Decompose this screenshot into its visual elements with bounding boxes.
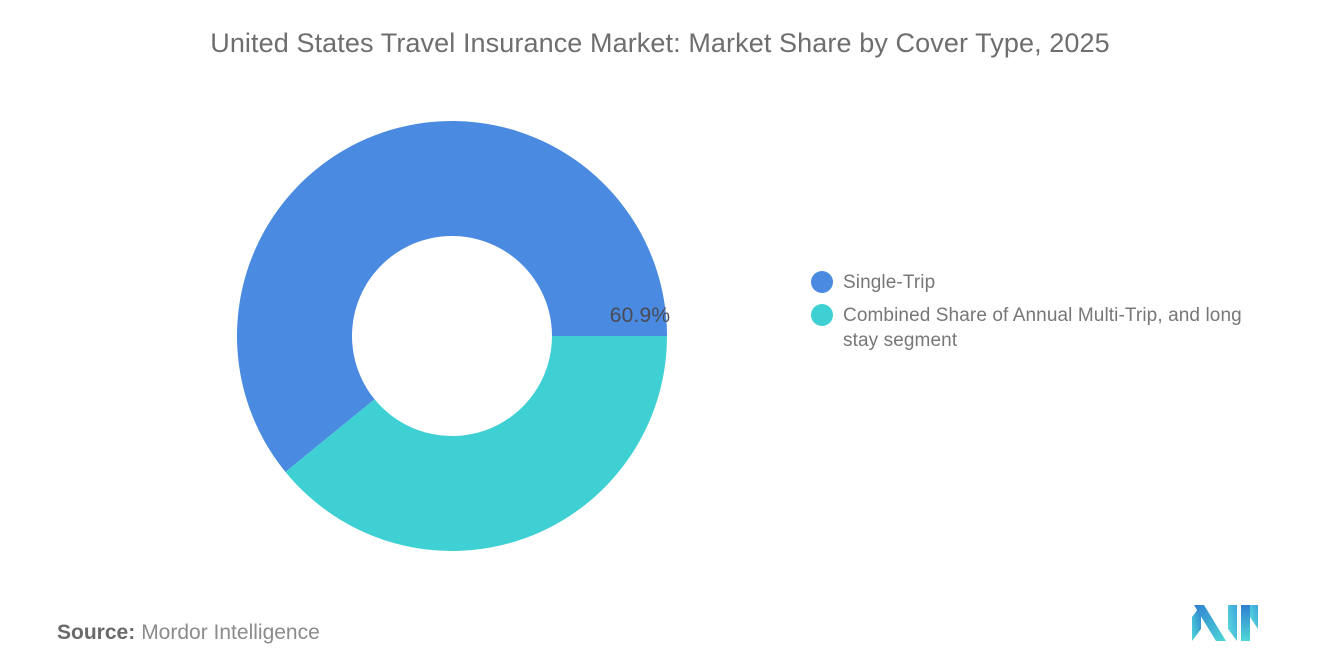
page-title: United States Travel Insurance Market: M…: [0, 28, 1320, 59]
source-value: Mordor Intelligence: [141, 621, 320, 644]
donut-chart-svg: [237, 121, 667, 551]
source-label: Source:: [57, 621, 135, 644]
legend-item-label: Combined Share of Annual Multi-Trip, and…: [843, 303, 1273, 353]
source-attribution: Source:Mordor Intelligence: [57, 621, 320, 645]
legend-item-single-trip[interactable]: Single-Trip: [811, 270, 1281, 295]
logo-svg: [1192, 603, 1258, 641]
legend-swatch-icon: [811, 271, 833, 293]
donut-chart: 60.9%: [237, 121, 667, 551]
donut-slice-value-label: 60.9%: [575, 304, 705, 328]
legend-swatch-icon: [811, 304, 833, 326]
chart-legend: Single-Trip Combined Share of Annual Mul…: [811, 270, 1281, 361]
legend-item-label: Single-Trip: [843, 270, 935, 295]
legend-item-combined-share[interactable]: Combined Share of Annual Multi-Trip, and…: [811, 303, 1281, 353]
mordor-intelligence-logo-icon: [1192, 603, 1258, 641]
